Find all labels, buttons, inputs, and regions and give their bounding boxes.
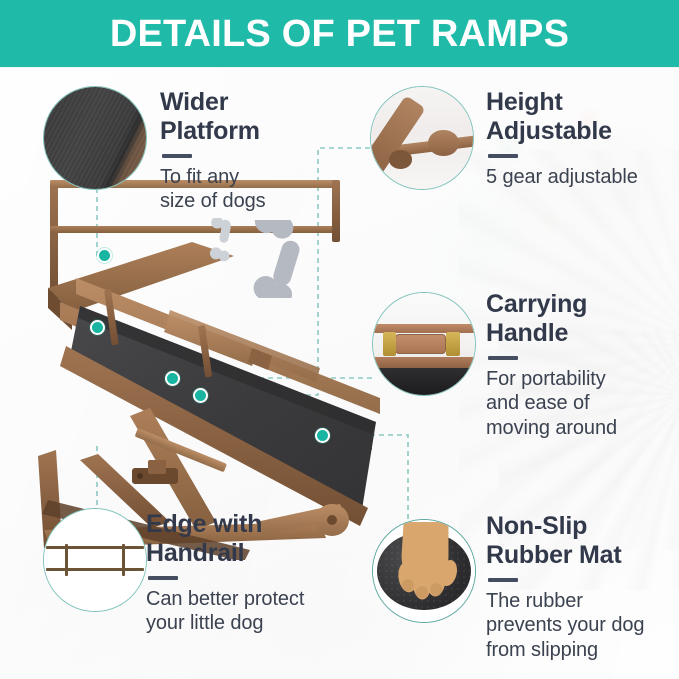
infographic-canvas: DETAILS OF PET RAMPS (0, 0, 679, 679)
marker-edge-handrail[interactable] (90, 320, 105, 335)
feature-title: Height Adjustable (486, 88, 676, 145)
title-divider (148, 576, 178, 580)
title-divider (488, 154, 518, 158)
rubber-mat-text: Non-Slip Rubber Mat The rubber prevents … (486, 512, 678, 662)
wider-platform-text: Wider Platform To fit any size of dogs (160, 88, 325, 214)
feature-description: 5 gear adjustable (486, 165, 676, 189)
title-divider (488, 578, 518, 582)
height-adjustable-text: Height Adjustable 5 gear adjustable (486, 88, 676, 189)
feature-title: Edge with Handrail (146, 510, 346, 567)
feature-description: For portability and ease of moving aroun… (486, 367, 676, 440)
feature-description: Can better protect your little dog (146, 587, 346, 636)
edge-handrail-text: Edge with Handrail Can better protect yo… (146, 510, 346, 636)
hinge-closeup-image (370, 86, 474, 190)
feature-description: To fit any size of dogs (160, 165, 325, 214)
platform-closeup-image (43, 86, 147, 190)
marker-carrying-handle[interactable] (165, 371, 180, 386)
page-title: DETAILS OF PET RAMPS (110, 15, 569, 53)
paw-on-rubber-mat-image (372, 519, 476, 623)
handle-closeup-image (372, 292, 476, 396)
feature-title: Carrying Handle (486, 290, 676, 347)
feature-title: Wider Platform (160, 88, 325, 145)
header-banner: DETAILS OF PET RAMPS (0, 0, 679, 67)
title-divider (162, 154, 192, 158)
marker-rubber-mat[interactable] (315, 428, 330, 443)
title-divider (488, 356, 518, 360)
feature-title: Non-Slip Rubber Mat (486, 512, 678, 569)
feature-description: The rubber prevents your dog from slippi… (486, 589, 678, 662)
bone-icon-large (228, 220, 318, 298)
dog-paw (373, 520, 475, 622)
marker-wider-platform[interactable] (97, 248, 112, 263)
handrail-line-drawing (43, 508, 147, 612)
carrying-handle-text: Carrying Handle For portability and ease… (486, 290, 676, 440)
marker-height-adjustable[interactable] (193, 388, 208, 403)
